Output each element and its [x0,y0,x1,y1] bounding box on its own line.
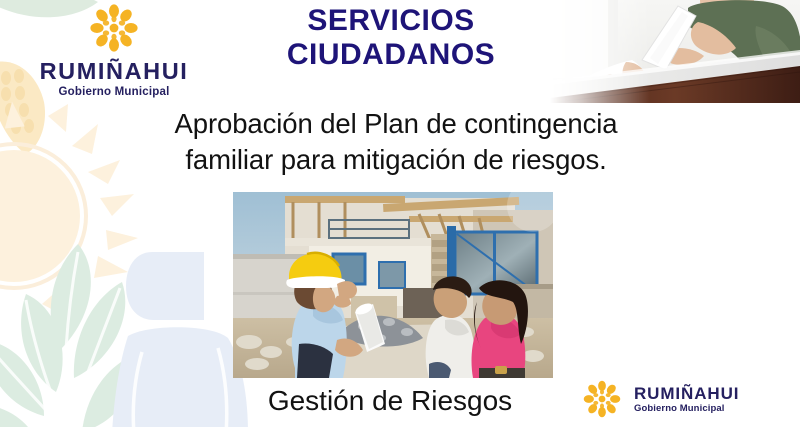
brand-subtitle: Gobierno Municipal [634,404,739,414]
page-title-line2: familiar para mitigación de riesgos. [96,142,696,178]
brand-name: RUMIÑAHUI [634,385,739,402]
header-title-line2: CIUDADANOS [236,38,546,72]
construction-inspection-photo [233,192,553,378]
caption-text: Gestión de Riesgos [200,386,580,417]
slide-canvas: RUMIÑAHUI Gobierno Municipal SERVICIOS C… [0,0,800,427]
brand-logo-bottom: RUMIÑAHUI Gobierno Municipal [578,375,778,423]
page-title-line1: Aprobación del Plan de contingencia [96,106,696,142]
flower-rosette-icon [578,377,626,421]
header-title: SERVICIOS CIUDADANOS [236,4,546,71]
brand-subtitle: Gobierno Municipal [18,87,210,99]
paper-handover-photo [550,0,800,103]
brand-name: RUMIÑAHUI [18,60,210,84]
brand-text-bottom: RUMIÑAHUI Gobierno Municipal [634,385,739,414]
brand-logo-top: RUMIÑAHUI Gobierno Municipal [18,2,210,98]
leaves-graphic [0,236,184,427]
header-title-line1: SERVICIOS [307,4,474,37]
page-title: Aprobación del Plan de contingencia fami… [96,106,696,179]
flower-rosette-icon [83,2,145,54]
